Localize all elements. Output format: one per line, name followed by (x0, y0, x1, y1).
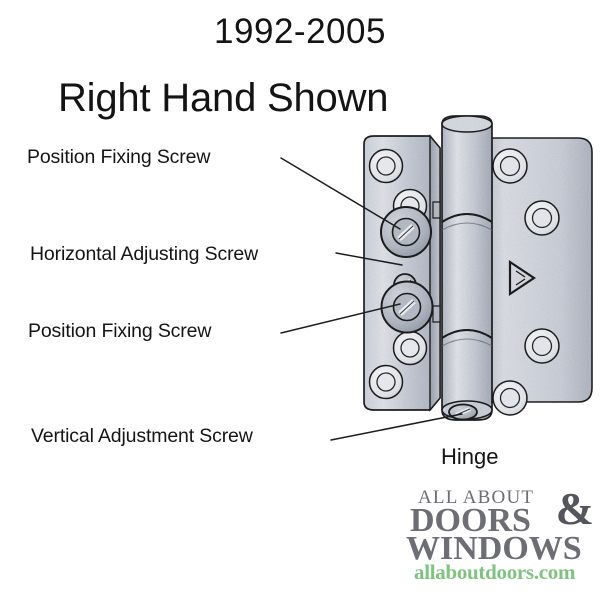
diagram-canvas: 1992-2005 Right Hand Shown (0, 0, 600, 600)
logo-website-url: allaboutdoors.com (414, 562, 575, 583)
page-title-year: 1992-2005 (0, 12, 600, 52)
position-fixing-screw-bottom-draw (382, 282, 433, 333)
brand-logo: ALL ABOUT & DOORS WINDOWS allaboutdoors.… (404, 486, 596, 590)
hinge-left-leaf-bevel (430, 136, 440, 410)
logo-ampersand-icon: & (556, 486, 594, 532)
hinge-knuckle (442, 116, 492, 420)
callout-position-fixing-screw-top: Position Fixing Screw (27, 146, 210, 169)
position-fixing-screw-top (381, 207, 431, 257)
bevel-notch-bottom (433, 306, 440, 322)
callout-position-fixing-screw-bottom: Position Fixing Screw (28, 320, 211, 343)
callout-horizontal-adjusting-screw: Horizontal Adjusting Screw (30, 243, 258, 266)
bevel-notch-top (433, 202, 440, 218)
knuckle-top-cap (442, 116, 492, 132)
callout-vertical-adjustment-screw: Vertical Adjustment Screw (31, 425, 253, 448)
part-name-hinge: Hinge (441, 444, 498, 470)
vertical-adjustment-screw (449, 405, 477, 420)
hinge-illustration (330, 110, 600, 430)
